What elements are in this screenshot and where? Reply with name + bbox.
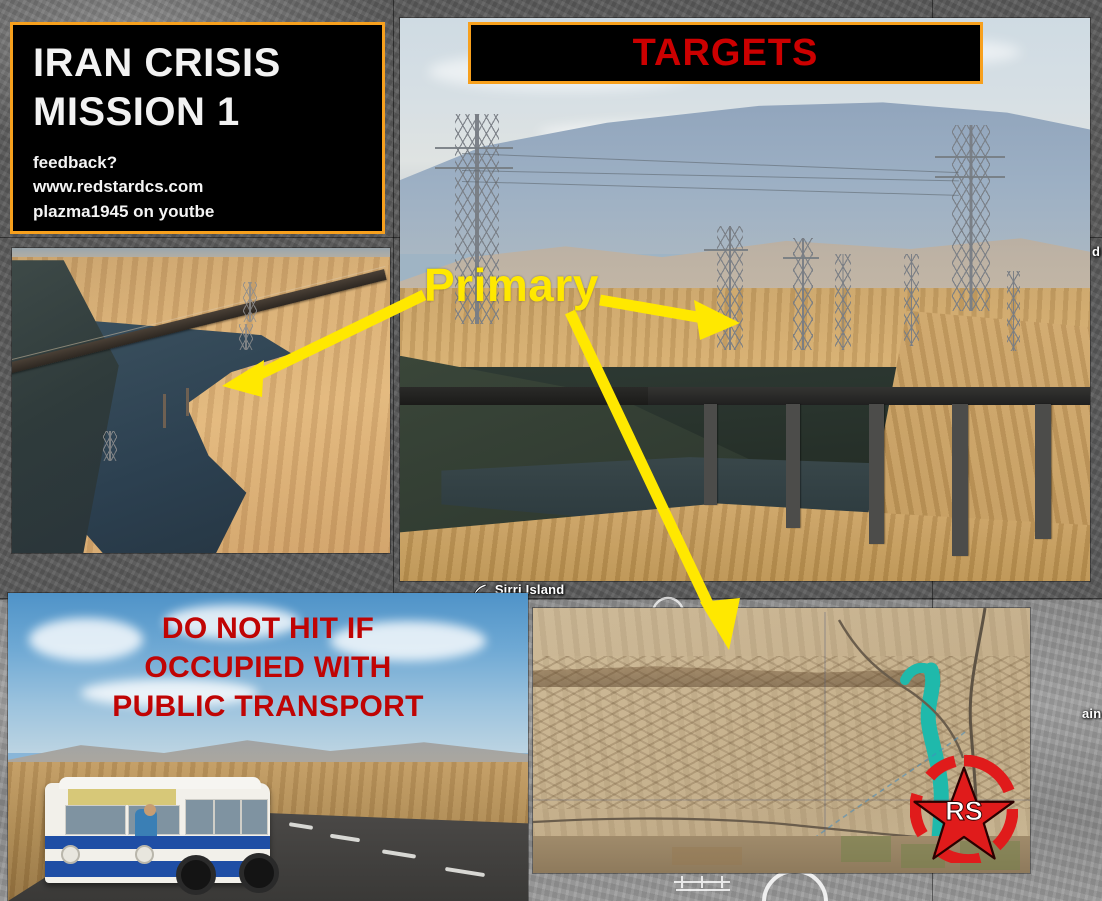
mission-title-line-1: IRAN CRISIS bbox=[33, 39, 362, 88]
mission-title-line-2: MISSION 1 bbox=[33, 88, 362, 137]
arrow-to-main-bridge bbox=[600, 300, 740, 340]
targets-header-label: TARGETS bbox=[633, 32, 819, 75]
arrow-to-map-location bbox=[570, 312, 740, 650]
arrow-to-left-bridge bbox=[222, 295, 424, 397]
feedback-block: feedback? www.redstardcs.com plazma1945 … bbox=[33, 151, 362, 225]
briefing-image: Sirri Island d ain bbox=[0, 0, 1102, 901]
targets-header-card: TARGETS bbox=[468, 22, 983, 84]
youtube-handle[interactable]: plazma1945 on youtbe bbox=[33, 200, 362, 225]
website-link[interactable]: www.redstardcs.com bbox=[33, 175, 362, 200]
mission-title-card: IRAN CRISIS MISSION 1 feedback? www.reds… bbox=[10, 22, 385, 234]
feedback-prompt: feedback? bbox=[33, 151, 362, 176]
primary-target-label: Primary bbox=[424, 258, 599, 312]
